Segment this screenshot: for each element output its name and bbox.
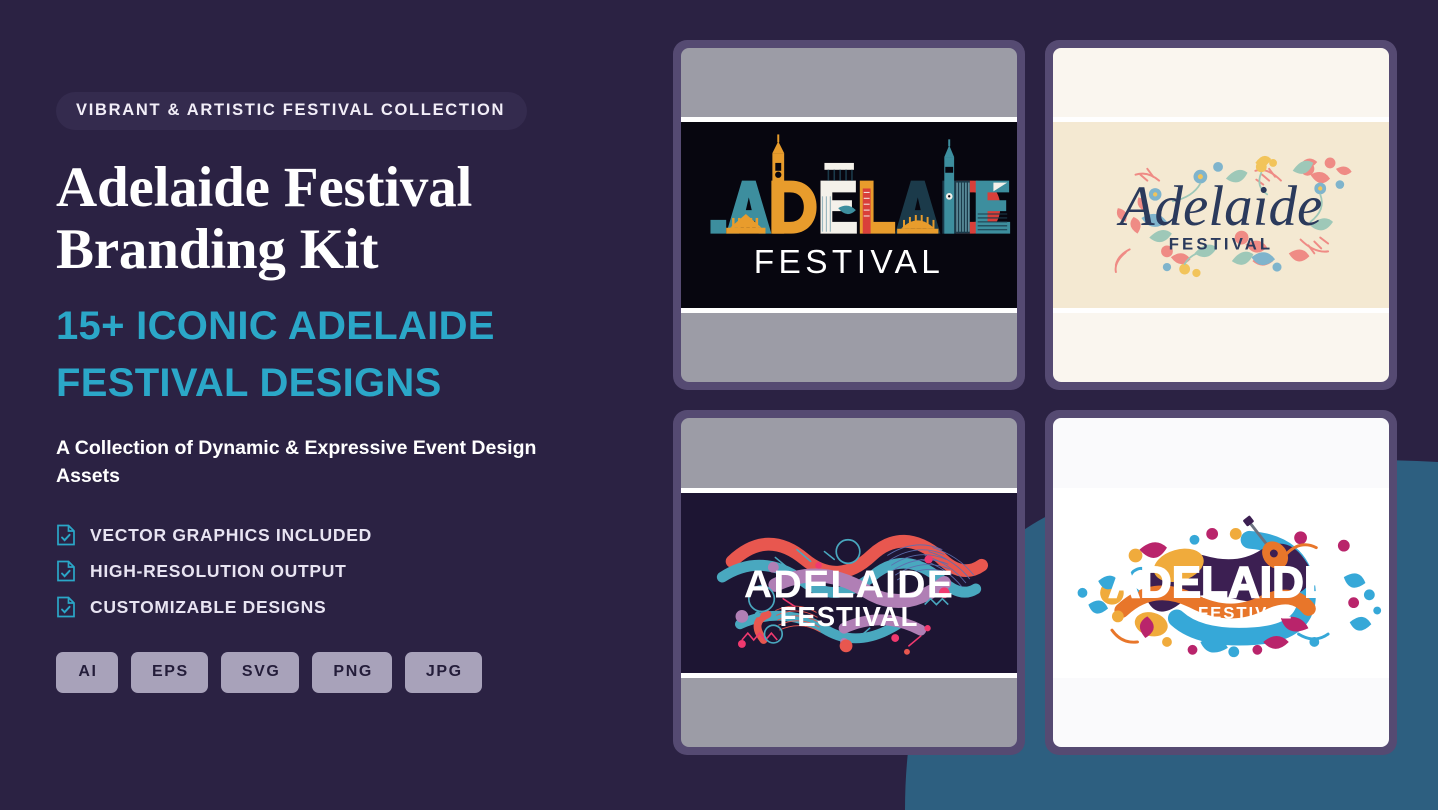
format-badge-ai: AI (56, 652, 118, 693)
text-pane: VIBRANT & ARTISTIC FESTIVAL COLLECTION A… (0, 0, 660, 810)
logo-subtitle: FESTIVAL (1198, 603, 1293, 622)
list-item-label: HIGH-RESOLUTION OUTPUT (90, 561, 347, 582)
feature-list: VECTOR GRAPHICS INCLUDED HIGH-RESOLUTION… (56, 524, 660, 618)
document-check-icon (56, 560, 76, 582)
card-abstract-ribbon-logo[interactable]: ADELAIDE FESTIVAL (673, 410, 1025, 755)
logo-banner: Adelaide FESTIVAL (1053, 117, 1389, 313)
format-badge-jpg: JPG (405, 652, 482, 693)
list-item: CUSTOMIZABLE DESIGNS (56, 596, 660, 618)
logo-banner: FESTIVAL (681, 117, 1017, 313)
logo-wordmark: FESTIVAL (754, 244, 945, 281)
card-architectural-logo[interactable]: FESTIVAL (673, 40, 1025, 390)
promo-layout: VIBRANT & ARTISTIC FESTIVAL COLLECTION A… (0, 0, 1438, 810)
tagline: A Collection of Dynamic & Expressive Eve… (56, 434, 556, 491)
card-frame: ADELAIDE FESTIVAL (1053, 418, 1389, 747)
format-badge-eps: EPS (131, 652, 208, 693)
logo-subtitle: FESTIVAL (780, 601, 919, 632)
design-card-grid: FESTIVAL (673, 40, 1397, 760)
headline-line-1: Adelaide Festival (56, 156, 472, 219)
card-frame: ADELAIDE FESTIVAL (681, 418, 1017, 747)
subheadline: 15+ ICONIC ADELAIDE FESTIVAL DESIGNS (56, 298, 576, 412)
logo-banner: ADELAIDE FESTIVAL (1053, 488, 1389, 678)
format-badge-group: AI EPS SVG PNG JPG (56, 652, 660, 693)
gallery-pane: FESTIVAL (660, 0, 1438, 810)
list-item-label: VECTOR GRAPHICS INCLUDED (90, 525, 372, 546)
card-frame: FESTIVAL (681, 48, 1017, 382)
list-item: HIGH-RESOLUTION OUTPUT (56, 560, 660, 582)
logo-banner: ADELAIDE FESTIVAL (681, 488, 1017, 678)
format-badge-svg: SVG (221, 652, 300, 693)
logo-wordmark: Adelaide (1116, 175, 1322, 238)
card-frame: Adelaide FESTIVAL (1053, 48, 1389, 382)
card-floral-script-logo[interactable]: Adelaide FESTIVAL (1045, 40, 1397, 390)
list-item: VECTOR GRAPHICS INCLUDED (56, 524, 660, 546)
eyebrow-badge: VIBRANT & ARTISTIC FESTIVAL COLLECTION (56, 92, 527, 130)
headline-line-2: Branding Kit (56, 218, 378, 281)
logo-wordmark: ADELAIDE (1109, 558, 1334, 606)
document-check-icon (56, 524, 76, 546)
card-colorful-splash-logo[interactable]: ADELAIDE FESTIVAL (1045, 410, 1397, 755)
logo-subtitle: FESTIVAL (1169, 234, 1274, 253)
page-title: Adelaide Festival Branding Kit (56, 157, 660, 280)
format-badge-png: PNG (312, 652, 391, 693)
list-item-label: CUSTOMIZABLE DESIGNS (90, 597, 326, 618)
logo-wordmark: ADELAIDE (744, 562, 954, 606)
document-check-icon (56, 596, 76, 618)
